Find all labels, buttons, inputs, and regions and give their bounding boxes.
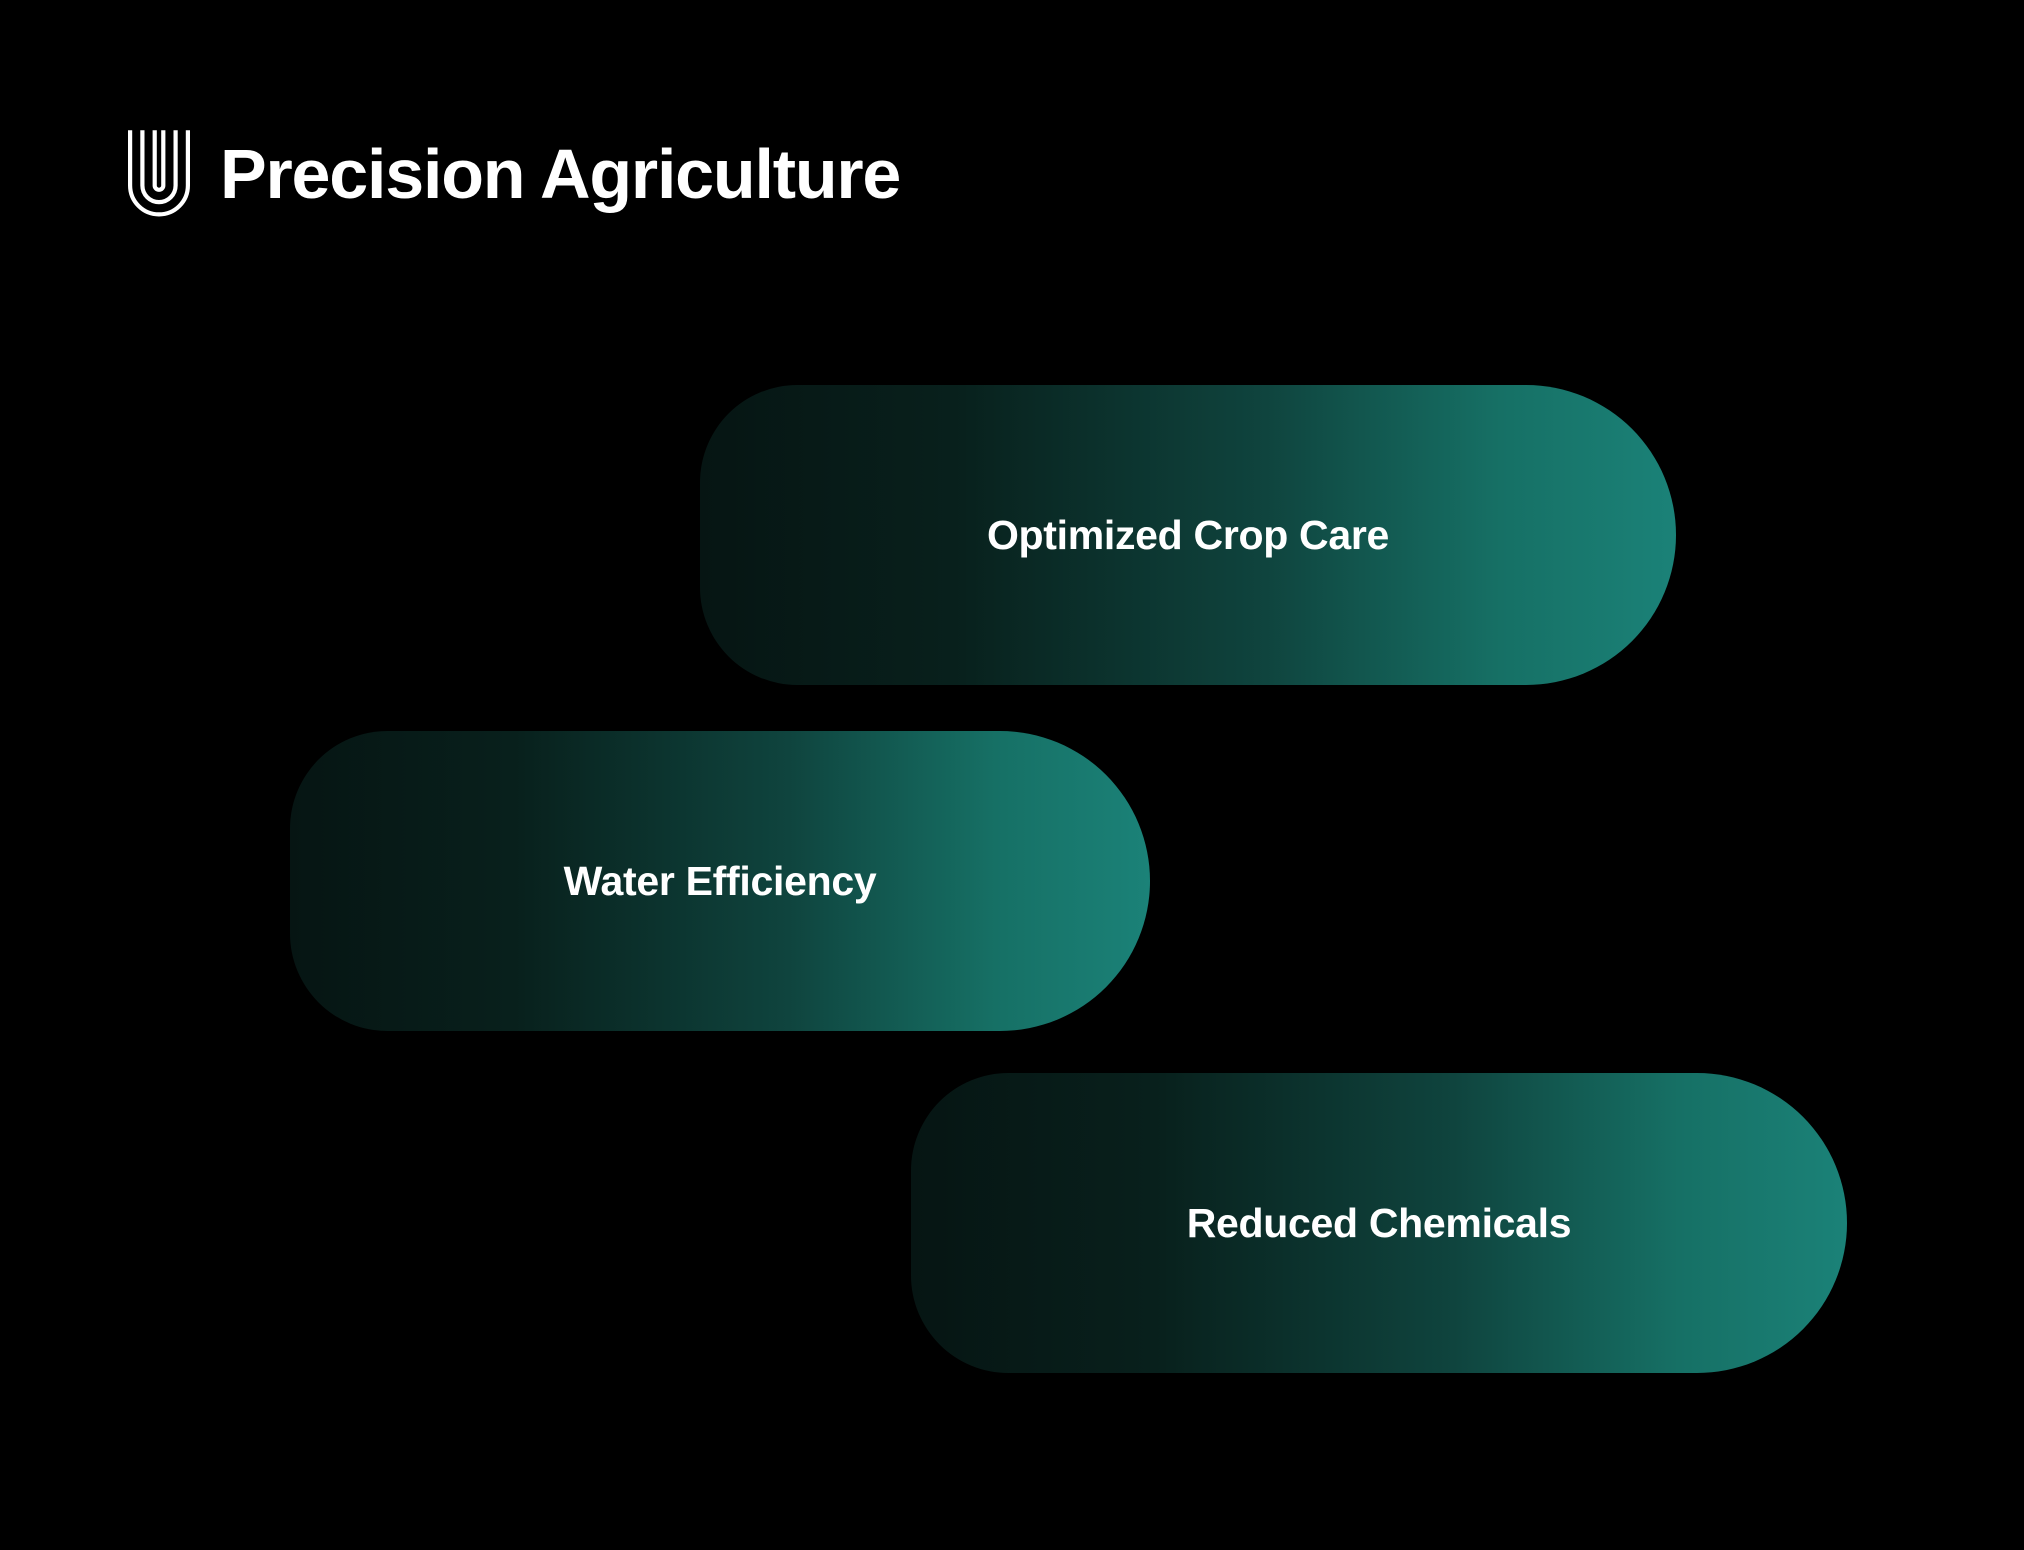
feature-pill-reduced-chemicals[interactable]: Reduced Chemicals (911, 1073, 1847, 1373)
feature-pill-water-efficiency[interactable]: Water Efficiency (290, 731, 1150, 1031)
page-title: Precision Agriculture (220, 139, 900, 209)
feature-pill-label: Reduced Chemicals (1187, 1203, 1572, 1244)
feature-pill-label: Water Efficiency (564, 861, 877, 902)
feature-pill-optimized-crop-care[interactable]: Optimized Crop Care (700, 385, 1676, 685)
nested-u-logo-icon (126, 128, 192, 220)
feature-pill-label: Optimized Crop Care (987, 515, 1389, 556)
slide-header: Precision Agriculture (126, 128, 900, 220)
slide-canvas: Precision Agriculture Optimized Crop Car… (0, 0, 2024, 1550)
